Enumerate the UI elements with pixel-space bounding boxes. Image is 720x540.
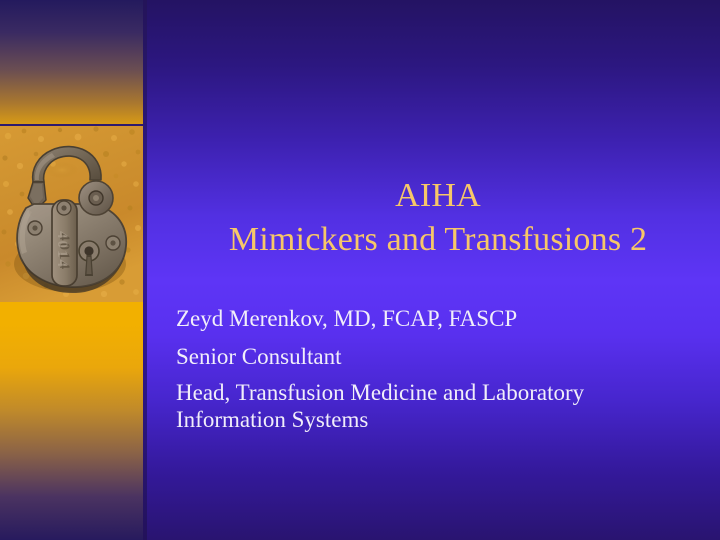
padlock-photo: 4014 4014 [0, 124, 143, 302]
padlock-illustration: 4014 4014 [0, 124, 143, 302]
title-line-1: AIHA [168, 174, 708, 218]
title-line-2: Mimickers and Transfusions 2 [168, 218, 708, 262]
slide-title: AIHA Mimickers and Transfusions 2 [168, 174, 708, 262]
strip-divider [143, 0, 147, 540]
subtitle-department: Head, Transfusion Medicine and Laborator… [176, 379, 696, 433]
subtitle-author: Zeyd Merenkov, MD, FCAP, FASCP [176, 303, 696, 335]
subtitle-role: Senior Consultant [176, 341, 696, 373]
slide-subtitle: Zeyd Merenkov, MD, FCAP, FASCP Senior Co… [176, 303, 696, 433]
svg-text:4014: 4014 [54, 231, 70, 269]
photo-top-edge [0, 124, 143, 126]
presentation-slide: 4014 4014 AIHA Mimickers and Transfusion… [0, 0, 720, 540]
